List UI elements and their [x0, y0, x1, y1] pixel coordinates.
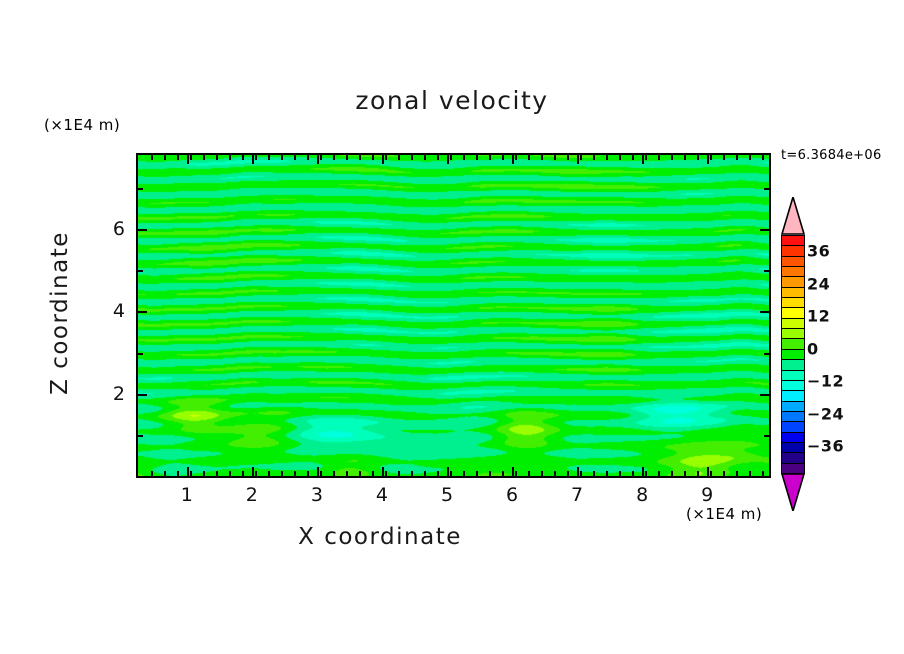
x-axis-minor-tick — [619, 471, 621, 476]
colorbar-band — [781, 370, 805, 381]
colorbar-tick-label: 12 — [807, 307, 830, 326]
y-axis-minor-tick — [764, 353, 769, 355]
x-axis-minor-tick — [554, 471, 556, 476]
colorbar-under-cap — [781, 473, 805, 511]
x-axis-minor-tick — [541, 471, 543, 476]
x-axis-minor-tick — [359, 471, 361, 476]
y-axis-minor-tick — [764, 270, 769, 272]
y-axis-major-tick — [760, 229, 769, 231]
x-axis-major-tick — [642, 467, 644, 476]
colorbar-band — [781, 318, 805, 329]
x-axis-minor-tick — [437, 471, 439, 476]
y-axis-major-tick — [138, 311, 147, 313]
x-axis-minor-tick — [580, 155, 582, 160]
x-axis-minor-tick — [476, 155, 478, 160]
x-axis-minor-tick — [606, 155, 608, 160]
x-axis-minor-tick — [736, 155, 738, 160]
x-axis-major-tick — [512, 155, 514, 164]
x-axis-minor-tick — [346, 471, 348, 476]
x-axis-major-tick — [252, 467, 254, 476]
x-axis-major-tick — [187, 155, 189, 164]
y-axis-minor-tick — [764, 188, 769, 190]
x-axis-minor-tick — [762, 155, 764, 160]
x-axis-tick-label: 7 — [571, 484, 583, 506]
x-axis-major-tick — [447, 155, 449, 164]
x-axis-tick-label: 5 — [441, 484, 453, 506]
x-axis-major-tick — [707, 155, 709, 164]
colorbar: 3624120−12−24−36 — [781, 197, 805, 511]
colorbar-band — [781, 421, 805, 432]
x-axis-minor-tick — [450, 155, 452, 160]
x-axis-minor-tick — [736, 471, 738, 476]
x-axis-minor-tick — [554, 155, 556, 160]
x-axis-tick-label: 6 — [506, 484, 518, 506]
x-axis-tick-label: 3 — [311, 484, 323, 506]
x-axis-major-tick — [252, 155, 254, 164]
x-axis-major-tick — [382, 155, 384, 164]
x-axis-minor-tick — [593, 155, 595, 160]
y-axis-major-tick — [138, 229, 147, 231]
x-axis-minor-tick — [398, 471, 400, 476]
x-axis-tick-label: 1 — [181, 484, 193, 506]
x-axis-minor-tick — [320, 471, 322, 476]
x-axis-minor-tick — [255, 471, 257, 476]
x-axis-minor-tick — [684, 155, 686, 160]
y-axis-minor-tick — [138, 435, 143, 437]
x-axis-tick-label: 2 — [246, 484, 258, 506]
y-axis-major-tick — [760, 394, 769, 396]
y-axis-minor-tick — [764, 435, 769, 437]
colorbar-tick-label: −24 — [807, 404, 844, 423]
colorbar-band — [781, 359, 805, 370]
x-axis-minor-tick — [567, 155, 569, 160]
x-axis-minor-tick — [437, 155, 439, 160]
colorbar-band — [781, 432, 805, 443]
x-axis-minor-tick — [424, 471, 426, 476]
x-axis-minor-tick — [242, 155, 244, 160]
x-axis-minor-tick — [307, 471, 309, 476]
x-axis-title: X coordinate — [0, 524, 760, 550]
x-axis-major-tick — [512, 467, 514, 476]
x-axis-minor-tick — [203, 471, 205, 476]
x-axis-minor-tick — [411, 471, 413, 476]
x-axis-minor-tick — [606, 471, 608, 476]
x-axis-major-tick — [317, 155, 319, 164]
colorbar-band — [781, 287, 805, 298]
y-axis-tick-label: 4 — [103, 300, 125, 322]
contour-plot-area — [136, 153, 771, 478]
y-axis-major-tick — [138, 394, 147, 396]
x-axis-minor-tick — [320, 155, 322, 160]
x-axis-minor-tick — [671, 155, 673, 160]
x-axis-minor-tick — [593, 471, 595, 476]
x-axis-minor-tick — [372, 471, 374, 476]
y-axis-major-tick — [760, 311, 769, 313]
x-axis-minor-tick — [294, 471, 296, 476]
x-axis-minor-tick — [476, 471, 478, 476]
y-axis-minor-tick — [138, 353, 143, 355]
colorbar-over-cap — [781, 197, 805, 235]
colorbar-band — [781, 307, 805, 318]
colorbar-band — [781, 442, 805, 453]
x-axis-minor-tick — [528, 155, 530, 160]
x-axis-minor-tick — [242, 471, 244, 476]
x-axis-minor-tick — [710, 471, 712, 476]
x-axis-minor-tick — [424, 155, 426, 160]
colorbar-band — [781, 380, 805, 391]
x-axis-minor-tick — [541, 155, 543, 160]
y-axis-tick-label: 6 — [103, 218, 125, 240]
x-axis-minor-tick — [164, 155, 166, 160]
x-axis-minor-tick — [710, 155, 712, 160]
x-axis-minor-tick — [229, 155, 231, 160]
colorbar-tick-label: 24 — [807, 274, 830, 293]
x-axis-minor-tick — [632, 155, 634, 160]
colorbar-band — [781, 297, 805, 308]
x-axis-minor-tick — [749, 155, 751, 160]
x-axis-minor-tick — [684, 471, 686, 476]
x-axis-tick-label: 9 — [701, 484, 713, 506]
x-axis-minor-tick — [463, 471, 465, 476]
x-axis-unit-label: (×1E4 m) — [686, 505, 762, 523]
colorbar-band — [781, 390, 805, 401]
y-axis-minor-tick — [138, 270, 143, 272]
x-axis-minor-tick — [632, 471, 634, 476]
x-axis-major-tick — [577, 467, 579, 476]
x-axis-tick-label: 4 — [376, 484, 388, 506]
x-axis-major-tick — [642, 155, 644, 164]
x-axis-minor-tick — [658, 471, 660, 476]
x-axis-minor-tick — [268, 155, 270, 160]
x-axis-minor-tick — [281, 155, 283, 160]
x-axis-minor-tick — [346, 155, 348, 160]
x-axis-minor-tick — [723, 155, 725, 160]
x-axis-minor-tick — [372, 155, 374, 160]
colorbar-band — [781, 276, 805, 287]
x-axis-minor-tick — [216, 471, 218, 476]
colorbar-band — [781, 463, 805, 474]
x-axis-minor-tick — [580, 471, 582, 476]
page-title: zonal velocity — [0, 86, 904, 115]
x-axis-minor-tick — [190, 471, 192, 476]
x-axis-major-tick — [447, 467, 449, 476]
colorbar-band — [781, 256, 805, 267]
x-axis-minor-tick — [619, 155, 621, 160]
x-axis-major-tick — [317, 467, 319, 476]
x-axis-minor-tick — [450, 471, 452, 476]
y-axis-unit-label: (×1E4 m) — [44, 116, 120, 134]
x-axis-major-tick — [707, 467, 709, 476]
x-axis-minor-tick — [177, 471, 179, 476]
colorbar-tick-label: 36 — [807, 242, 830, 261]
x-axis-minor-tick — [216, 155, 218, 160]
colorbar-tick-label: 0 — [807, 339, 819, 358]
colorbar-tick-label: −36 — [807, 436, 844, 455]
colorbar-band — [781, 452, 805, 463]
x-axis-minor-tick — [398, 155, 400, 160]
colorbar-band — [781, 328, 805, 339]
x-axis-minor-tick — [268, 471, 270, 476]
x-axis-minor-tick — [502, 471, 504, 476]
x-axis-minor-tick — [164, 471, 166, 476]
x-axis-minor-tick — [281, 471, 283, 476]
x-axis-minor-tick — [385, 471, 387, 476]
x-axis-minor-tick — [762, 471, 764, 476]
x-axis-minor-tick — [697, 155, 699, 160]
x-axis-major-tick — [382, 467, 384, 476]
colorbar-band — [781, 401, 805, 412]
x-axis-minor-tick — [385, 155, 387, 160]
x-axis-minor-tick — [515, 471, 517, 476]
x-axis-minor-tick — [697, 471, 699, 476]
x-axis-minor-tick — [359, 155, 361, 160]
x-axis-minor-tick — [749, 471, 751, 476]
x-axis-tick-label: 8 — [636, 484, 648, 506]
contour-field — [138, 155, 769, 476]
y-axis-tick-label: 2 — [103, 383, 125, 405]
colorbar-band — [781, 349, 805, 360]
colorbar-band — [781, 266, 805, 277]
colorbar-band — [781, 411, 805, 422]
x-axis-minor-tick — [489, 471, 491, 476]
x-axis-major-tick — [187, 467, 189, 476]
x-axis-minor-tick — [177, 155, 179, 160]
x-axis-minor-tick — [645, 471, 647, 476]
x-axis-minor-tick — [333, 155, 335, 160]
y-axis-minor-tick — [138, 188, 143, 190]
colorbar-band — [781, 235, 805, 246]
y-axis-title: Z coordinate — [47, 193, 73, 433]
x-axis-minor-tick — [502, 155, 504, 160]
x-axis-minor-tick — [151, 155, 153, 160]
x-axis-minor-tick — [723, 471, 725, 476]
x-axis-minor-tick — [645, 155, 647, 160]
x-axis-minor-tick — [411, 155, 413, 160]
colorbar-band — [781, 338, 805, 349]
x-axis-minor-tick — [307, 155, 309, 160]
x-axis-minor-tick — [151, 471, 153, 476]
x-axis-minor-tick — [658, 155, 660, 160]
x-axis-minor-tick — [671, 471, 673, 476]
colorbar-tick-label: −12 — [807, 372, 844, 391]
x-axis-minor-tick — [229, 471, 231, 476]
colorbar-band — [781, 245, 805, 256]
x-axis-minor-tick — [567, 471, 569, 476]
x-axis-minor-tick — [190, 155, 192, 160]
x-axis-minor-tick — [515, 155, 517, 160]
x-axis-minor-tick — [203, 155, 205, 160]
x-axis-minor-tick — [489, 155, 491, 160]
x-axis-minor-tick — [528, 471, 530, 476]
x-axis-minor-tick — [294, 155, 296, 160]
x-axis-major-tick — [577, 155, 579, 164]
time-stamp-label: t=6.3684e+06 — [781, 148, 882, 163]
x-axis-minor-tick — [255, 155, 257, 160]
x-axis-minor-tick — [463, 155, 465, 160]
x-axis-minor-tick — [333, 471, 335, 476]
